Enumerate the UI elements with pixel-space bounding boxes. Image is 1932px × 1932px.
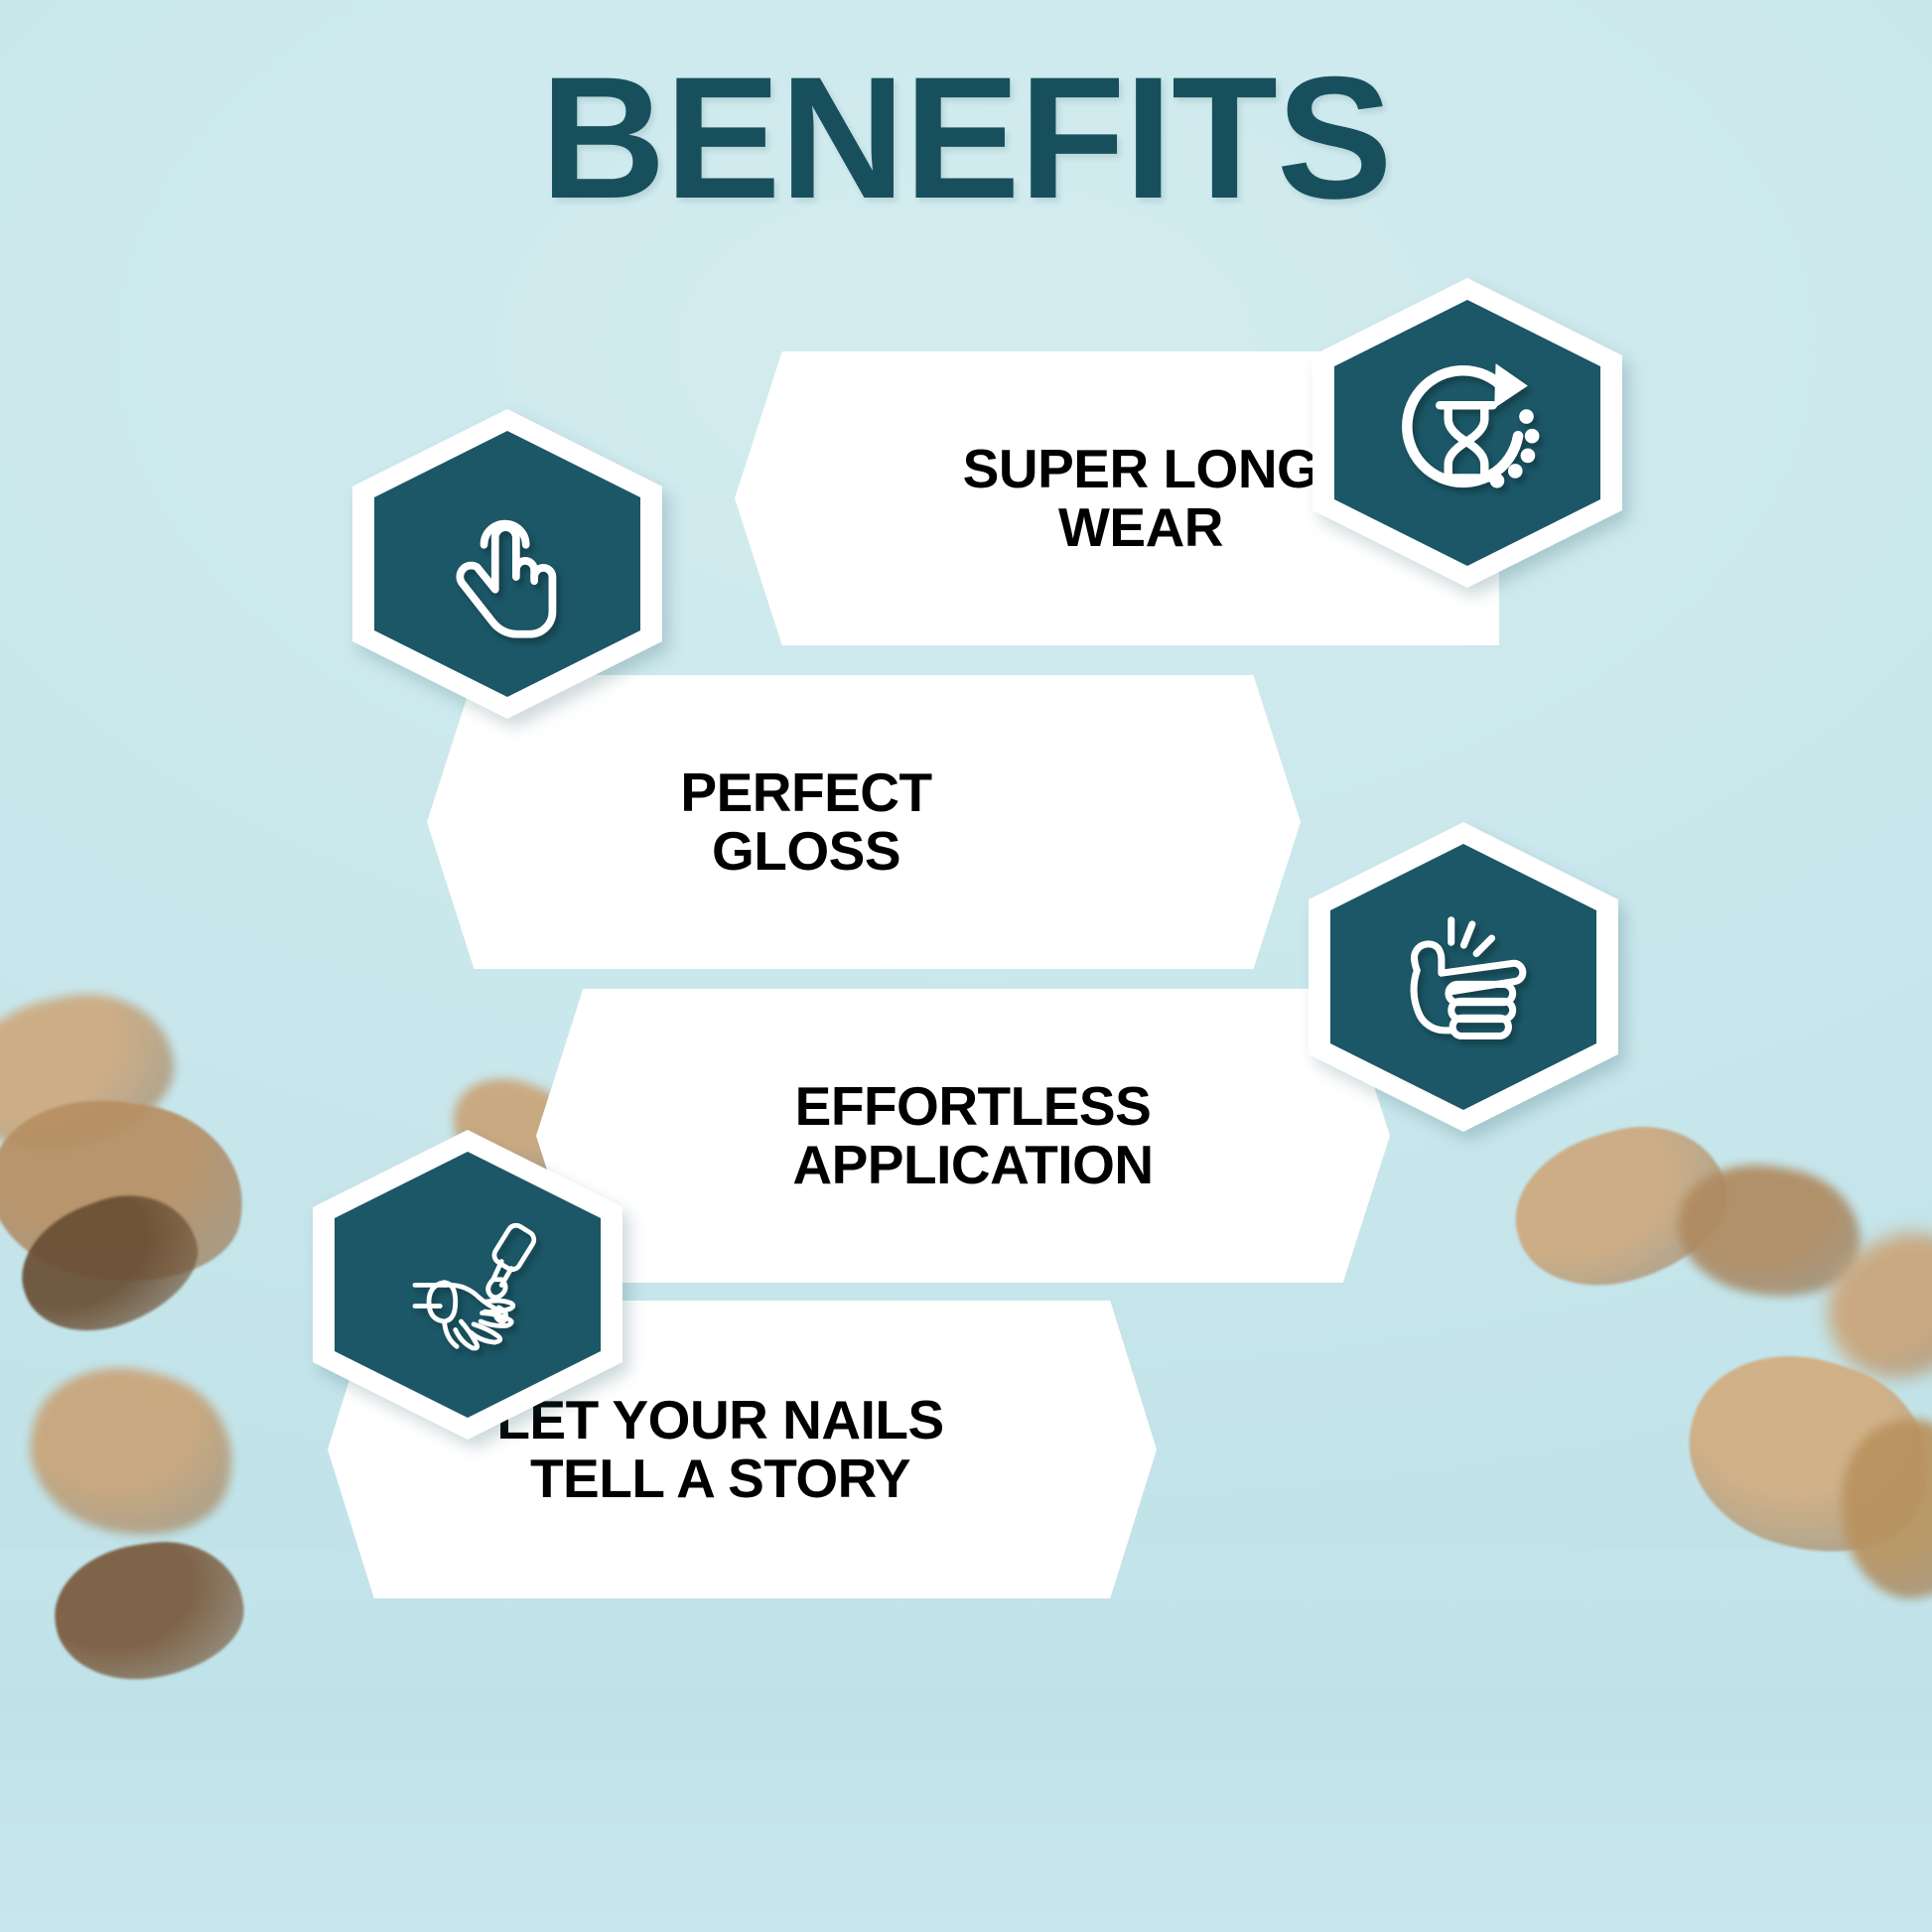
page-title: BENEFITS — [0, 48, 1932, 230]
benefit-banner-effortless-application[interactable]: EFFORTLESS APPLICATION — [536, 989, 1390, 1283]
background-floor — [0, 1549, 1932, 1932]
tap-finger-icon — [424, 481, 592, 648]
benefit-label: EFFORTLESS APPLICATION — [762, 1077, 1182, 1195]
benefit-banner-perfect-gloss[interactable]: PERFECT GLOSS — [427, 675, 1301, 969]
benefit-icon-hexagon-super-long-wear — [1312, 278, 1622, 588]
nail-polish-hand-icon — [384, 1201, 552, 1369]
benefit-label: SUPER LONG WEAR — [933, 440, 1349, 558]
benefit-label: PERFECT GLOSS — [650, 763, 961, 882]
hourglass-rotate-icon — [1384, 349, 1552, 517]
benefit-icon-hexagon-perfect-gloss — [352, 409, 662, 719]
finger-snap-icon — [1380, 894, 1548, 1061]
benefit-icon-hexagon-let-your-nails-tell-a-story — [313, 1130, 622, 1440]
decorative-husk — [13, 1348, 250, 1557]
benefit-icon-hexagon-effortless-application — [1309, 822, 1618, 1132]
